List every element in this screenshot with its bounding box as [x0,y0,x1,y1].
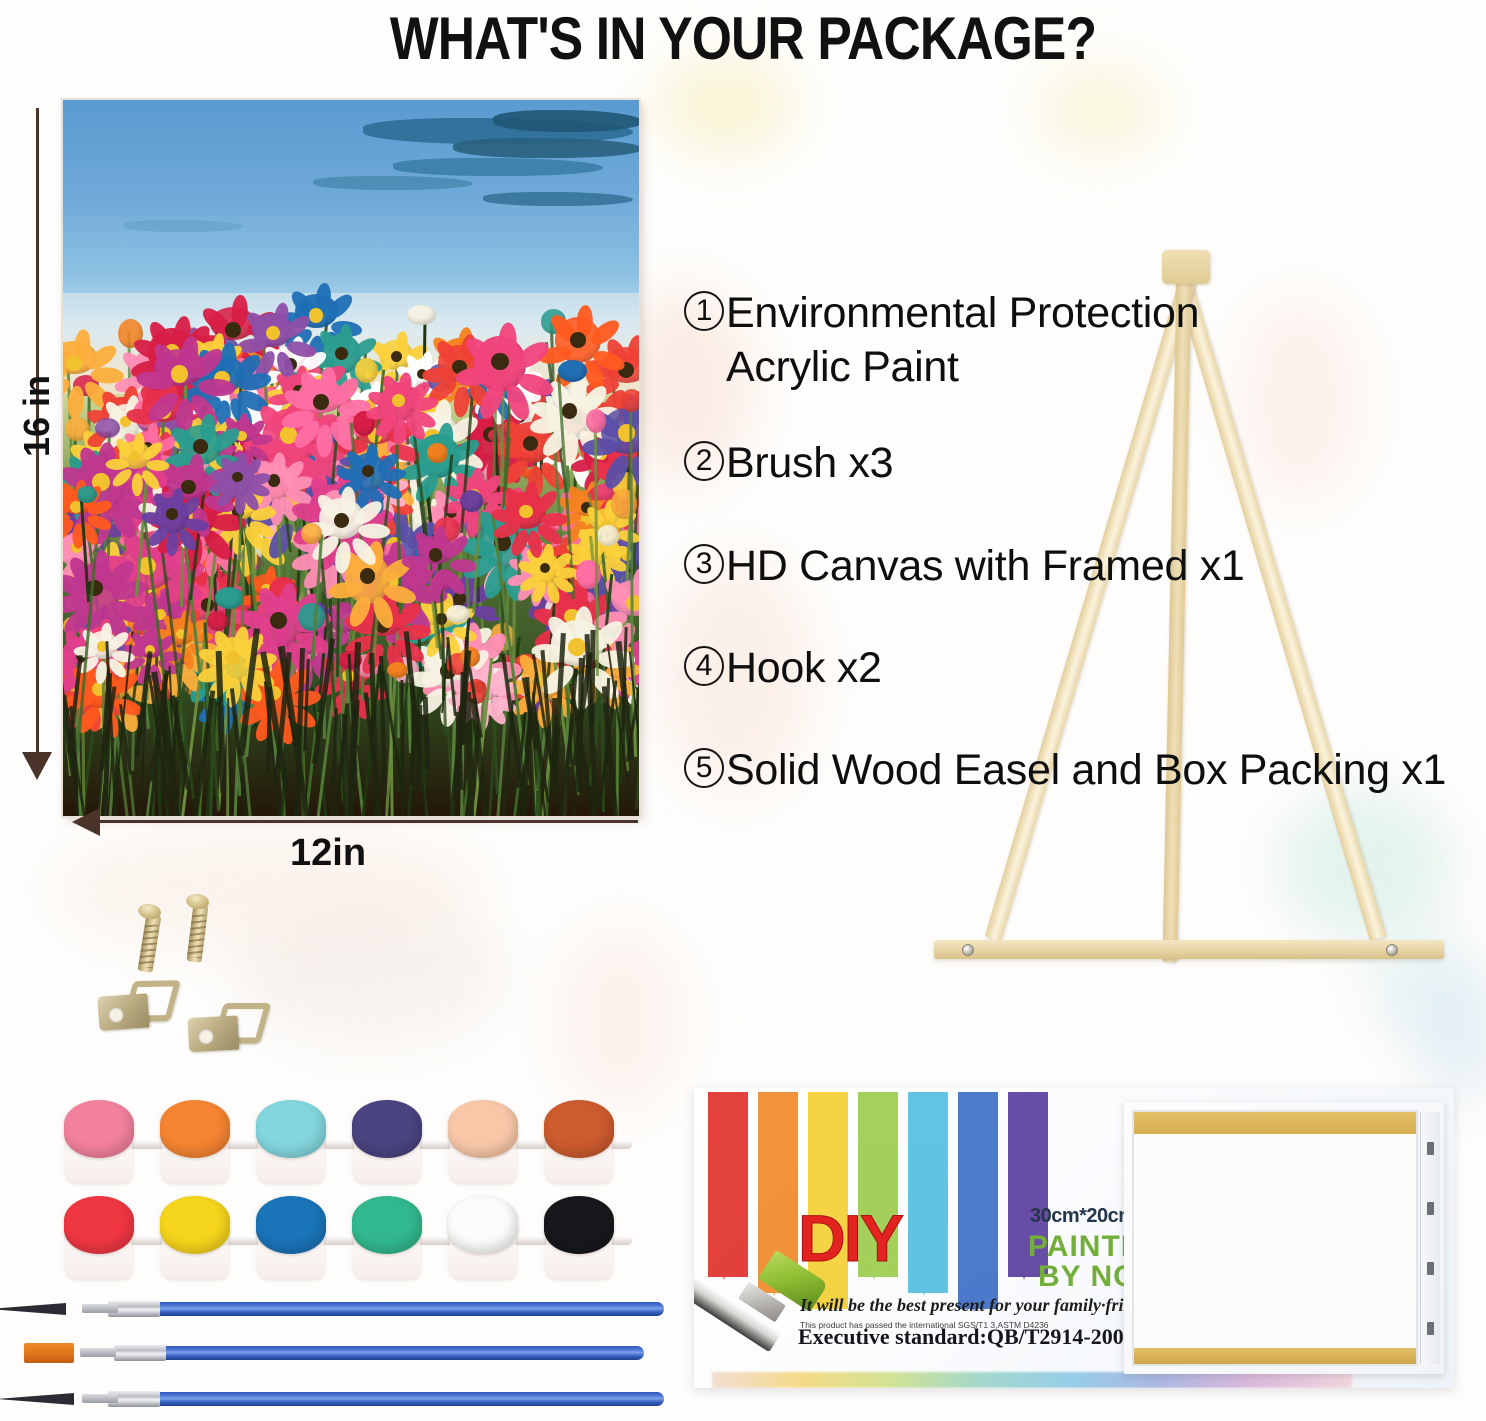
paint-pot-rust [542,1100,616,1182]
d-ring-plate [187,1016,239,1053]
paint-brushes [10,1292,670,1420]
painting-flower [621,389,639,411]
brush-bristle-tip [0,1393,74,1405]
painting-flower-center [362,465,374,477]
paint-pot-cap [544,1196,614,1254]
painting-flower [355,358,378,383]
watercolor-blob-pink [560,930,680,1110]
infographic-page: WHAT'S IN YOUR PACKAGE? 16 in 12in 1Envi… [0,0,1486,1421]
painting-flower-center [429,548,442,561]
diy-box-packaging: DIY 30cm*20cm PAINTING BY NO. It will be… [694,1088,1454,1388]
paint-pot-black [542,1196,616,1278]
packaging-standard: Executive standard:QB/T2914-2007 [798,1324,1135,1350]
width-dimension-label: 12in [290,832,366,875]
painting-flower-center [519,505,532,518]
screw [138,913,162,973]
painting-flower-center [334,513,349,528]
painting-flower [77,486,98,503]
paint-pot-row [58,1100,658,1188]
d-ring-plate [97,993,149,1030]
painting-flower [586,409,606,433]
package-item-2: 2Brush x3 [684,436,1484,490]
height-dimension-label: 16 in [16,375,58,457]
painting-flower-center [570,332,586,348]
painting-flower [558,360,587,382]
paint-pot-cap [64,1100,134,1158]
package-item-5: 5Solid Wood Easel and Box Packing x1 [684,743,1484,797]
canvas-staple [1427,1322,1434,1335]
brush-handle [144,1302,664,1316]
brush-neck [82,1304,118,1313]
stretcher-bar-top [1134,1112,1416,1134]
brush-handle [144,1392,664,1406]
d-ring-hook [187,998,272,1058]
paint-pot-cap [448,1100,518,1158]
painting-flower-center [309,308,324,323]
canvas-back-photo [1124,1102,1444,1374]
package-item-number: 3 [684,544,724,584]
painting-foreground-stem [589,630,595,724]
brush-bristle-flat [24,1343,74,1363]
painting-flower-center [171,365,188,382]
canvas-staple [1427,1142,1434,1155]
painting-flower-center [392,394,405,407]
painting-flower-center [266,326,280,340]
package-item-label: Brush x3 [726,436,1484,490]
brush-neck [82,1394,118,1403]
brush-ferrule [114,1345,166,1361]
painting-sky-streak [313,176,473,190]
easel-rivet-left [962,944,974,956]
painting-flower [207,611,228,631]
painting-flower-center [335,347,348,360]
canvas-back-surface [1132,1110,1418,1366]
rainbow-stripe [708,1092,748,1277]
paint-pot-cap [256,1196,326,1254]
painting-sky-streak [393,158,603,176]
package-item-number: 5 [684,748,724,788]
painting-flower [95,418,120,438]
painting-sky-streak [483,192,633,206]
paint-pot-teal [350,1196,424,1278]
width-dimension-line [98,820,638,823]
painting-flower-center [66,356,82,372]
paint-pot-cap [352,1100,422,1158]
paint-pot-light-cyan [254,1100,328,1182]
easel-rivet-right [1386,944,1398,956]
painting-petal [131,472,142,496]
painting-flower [301,523,322,544]
painting-flower-center [491,353,509,371]
rainbow-stripe [958,1092,998,1309]
painting-flower-center [181,480,196,495]
paint-pot-yellow [158,1196,232,1278]
paint-pot-peach [446,1100,520,1182]
painting-sky-streak [453,138,639,158]
painting-flower-center [166,508,178,520]
canvas-staple [1427,1202,1434,1215]
package-item-label: HD Canvas with Framed x1 [726,539,1484,593]
paint-pot-red [62,1196,136,1278]
painting-petal [235,492,246,515]
painting-flower [446,605,470,623]
acrylic-paint-pots [58,1100,658,1290]
product-painting [63,100,639,816]
paint-pot-cap [544,1100,614,1158]
painting-flower-center [226,651,240,665]
painting-flower-center [225,322,241,338]
painting-artwork [63,100,639,816]
paint-pot-dark-purple [350,1100,424,1182]
round-brush-small [34,1388,664,1410]
package-item-number: 4 [684,646,724,686]
painting-flower [427,443,448,463]
watercolor-blob-yellow [1040,70,1160,150]
package-item-number: 2 [684,441,724,481]
painting-flower-center [193,439,208,454]
paint-pot-orange [158,1100,232,1182]
paint-pot-cap [448,1196,518,1254]
package-item-3: 3HD Canvas with Framed x1 [684,539,1484,593]
stretcher-bar-bottom [1134,1348,1416,1364]
easel-crossbar [934,940,1444,959]
d-ring-hook [96,975,182,1037]
hanging-hardware [80,890,320,1070]
paint-pot-cap [160,1196,230,1254]
brush-handle [152,1346,644,1360]
easel-apex [1162,250,1210,284]
package-item-label: Solid Wood Easel and Box Packing x1 [726,743,1484,797]
painting-flower [407,305,436,325]
screw [187,903,209,962]
painting-flower [215,587,245,608]
paint-pot-row [58,1196,658,1284]
painting-flower [597,525,619,547]
rainbow-stripe [908,1092,948,1293]
painting-sky-streak [123,220,243,232]
paint-pot-cap [352,1196,422,1254]
width-arrow-head-icon [72,808,100,836]
paint-pot-cap [64,1196,134,1254]
package-item-1: 1Environmental Protection Acrylic Paint [684,286,1484,394]
painting-petal [105,458,128,469]
flat-brush [14,1342,644,1364]
painting-flower [298,603,325,631]
paint-pot-cap [160,1100,230,1158]
watercolor-blob-blue [1420,980,1486,1100]
painting-sky-streak [493,110,639,132]
package-item-label: Hook x2 [726,641,1484,695]
brush-neck [80,1348,116,1357]
brush-bristle-tip [0,1303,66,1315]
height-arrow-head-icon [22,752,52,780]
paint-pot-pink [62,1100,136,1182]
packaging-size-label: 30cm*20cm [1030,1205,1136,1228]
watercolor-blob-yellow [660,60,790,150]
package-item-number: 1 [684,291,724,331]
package-item-4: 4Hook x2 [684,641,1484,695]
diy-logo-text: DIY [798,1200,902,1276]
page-title: WHAT'S IN YOUR PACKAGE? [104,4,1382,73]
painting-flower-center [313,394,329,410]
canvas-staple [1427,1262,1434,1275]
package-item-label: Environmental Protection Acrylic Paint [726,286,1484,394]
paint-pot-cap [256,1100,326,1158]
round-brush-large [34,1298,664,1320]
package-contents-list: 1Environmental Protection Acrylic Paint2… [684,286,1484,845]
paint-pot-white [446,1196,520,1278]
painting-flower [460,490,483,512]
paint-pot-blue [254,1196,328,1278]
